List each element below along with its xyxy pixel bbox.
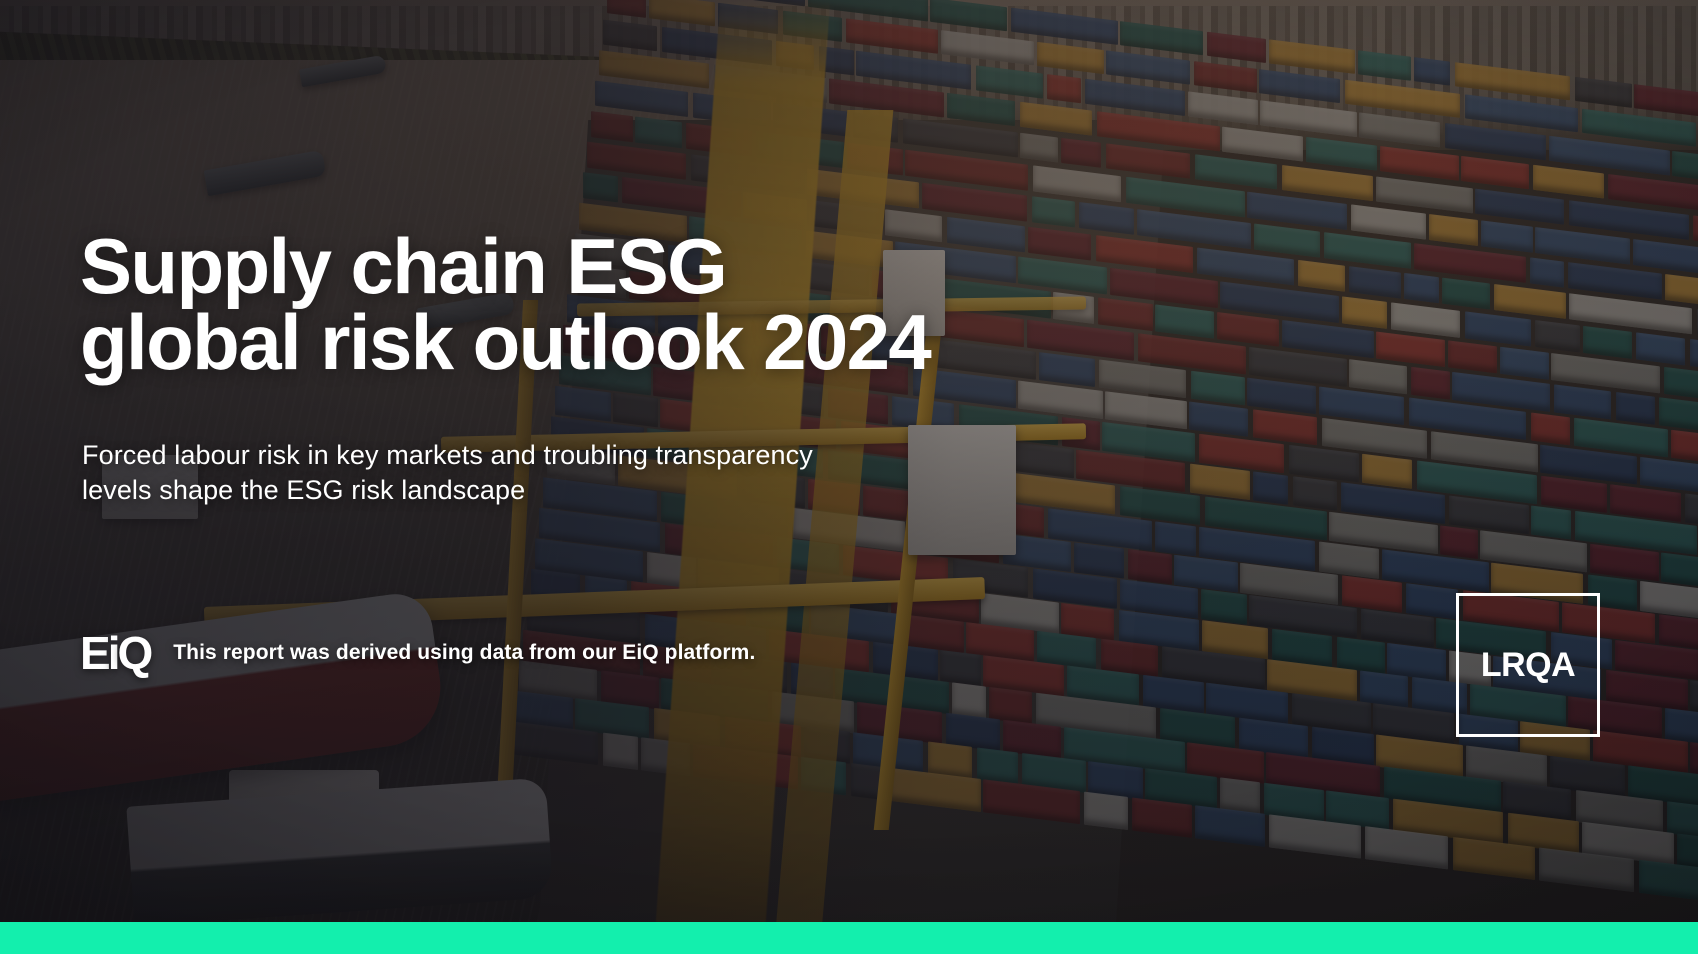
eiq-attribution: EiQ This report was derived using data f… [80,630,755,676]
cover-content: Supply chain ESG global risk outlook 202… [0,0,1698,954]
accent-bar [0,922,1698,954]
eiq-logo-letter-q: Q [117,630,151,676]
eiq-logo-letter-e: E [80,630,109,676]
report-cover: Supply chain ESG global risk outlook 202… [0,0,1698,954]
eiq-attribution-text: This report was derived using data from … [173,641,755,665]
eiq-logo: EiQ [80,630,151,676]
lrqa-logo: LRQA [1456,593,1600,737]
page-subtitle: Forced labour risk in key markets and tr… [82,438,842,507]
page-title: Supply chain ESG global risk outlook 202… [80,228,1080,381]
lrqa-wordmark: LRQA [1481,648,1575,682]
